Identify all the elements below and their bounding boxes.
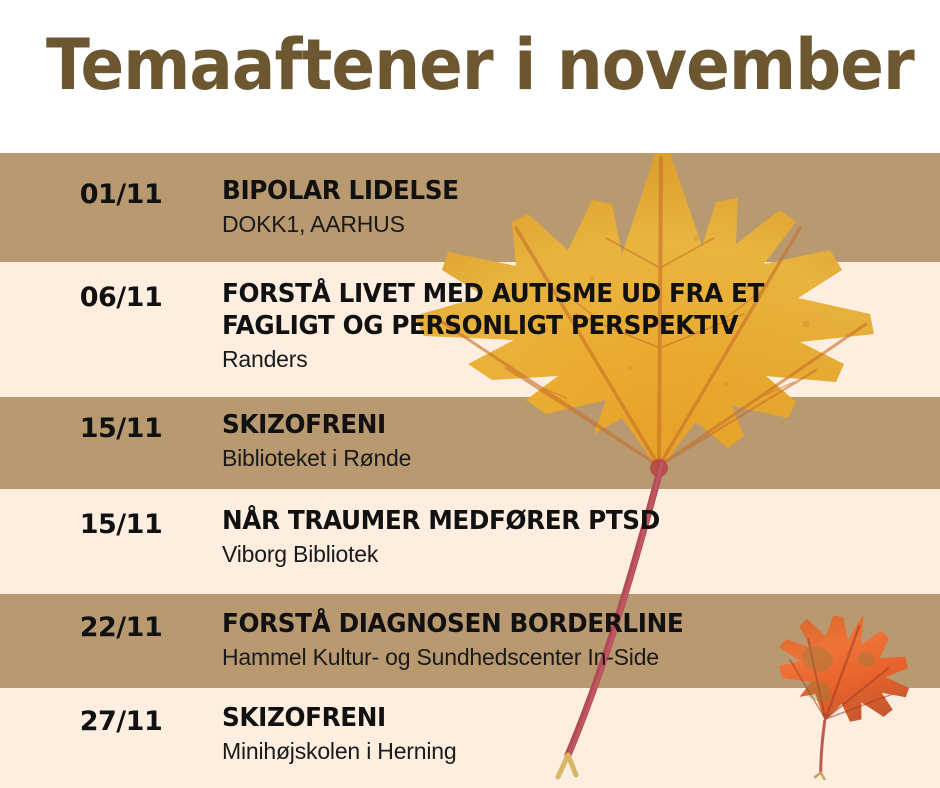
- event-title: BIPOLAR LIDELSE: [222, 175, 895, 207]
- event-text: BIPOLAR LIDELSE DOKK1, AARHUS: [222, 175, 930, 239]
- event-title: SKIZOFRENI: [222, 409, 895, 441]
- event-title: FORSTÅ LIVET MED AUTISME UD FRA ET FAGLI…: [222, 278, 895, 342]
- poster-header: Temaaftener i november: [0, 0, 940, 153]
- event-venue: Randers: [222, 344, 930, 374]
- event-date: 15/11: [46, 413, 196, 444]
- event-text: NÅR TRAUMER MEDFØRER PTSD Viborg Bibliot…: [222, 505, 930, 569]
- event-title: SKIZOFRENI: [222, 702, 895, 734]
- page-title: Temaaftener i november: [46, 22, 914, 108]
- event-date: 06/11: [46, 282, 196, 313]
- event-text: SKIZOFRENI Biblioteket i Rønde: [222, 409, 930, 473]
- event-venue: Minihøjskolen i Herning: [222, 736, 930, 766]
- event-date: 22/11: [46, 612, 196, 643]
- event-date: 01/11: [46, 179, 196, 210]
- event-date: 15/11: [46, 509, 196, 540]
- event-title: FORSTÅ DIAGNOSEN BORDERLINE: [222, 608, 895, 640]
- event-text: FORSTÅ DIAGNOSEN BORDERLINE Hammel Kultu…: [222, 608, 930, 672]
- event-venue: DOKK1, AARHUS: [222, 209, 930, 239]
- poster-canvas: Temaaftener i november 01/11 BIPOLAR LID…: [0, 0, 940, 788]
- event-venue: Hammel Kultur- og Sundhedscenter In-Side: [222, 642, 930, 672]
- event-text: SKIZOFRENI Minihøjskolen i Herning: [222, 702, 930, 766]
- event-venue: Viborg Bibliotek: [222, 539, 930, 569]
- event-venue: Biblioteket i Rønde: [222, 443, 930, 473]
- event-text: FORSTÅ LIVET MED AUTISME UD FRA ET FAGLI…: [222, 278, 930, 374]
- event-title: NÅR TRAUMER MEDFØRER PTSD: [222, 505, 895, 537]
- event-date: 27/11: [46, 706, 196, 737]
